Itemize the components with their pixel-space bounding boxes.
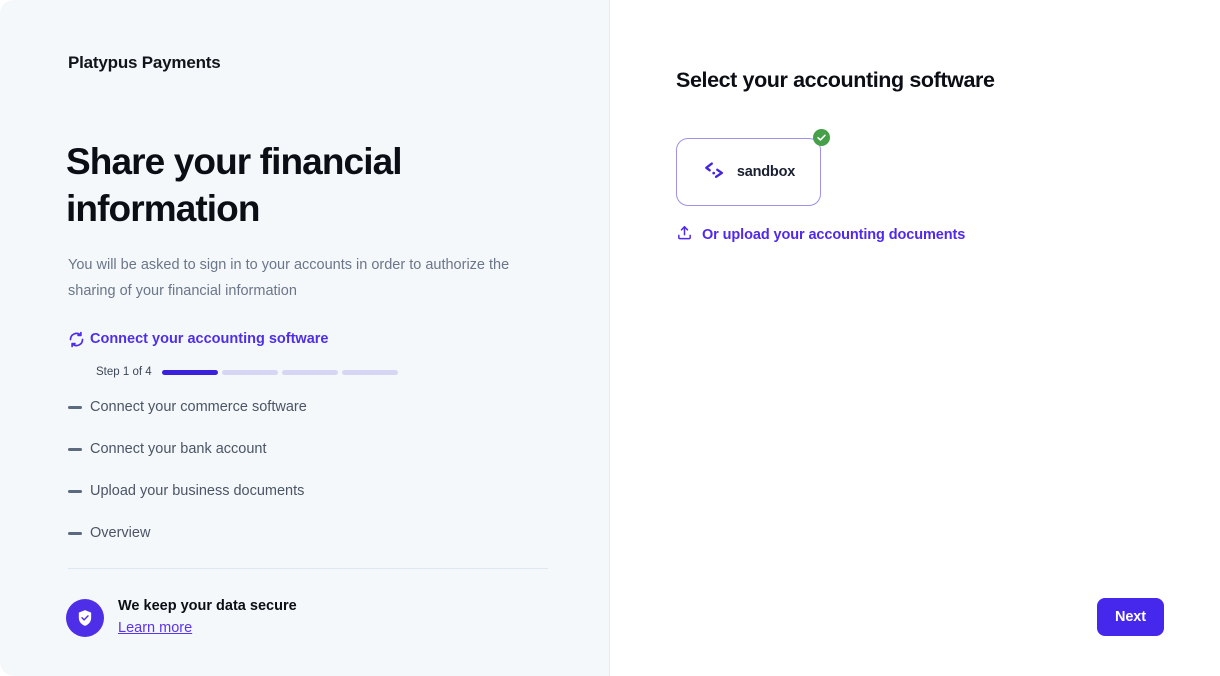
code-brackets-icon — [702, 159, 728, 186]
spacer — [68, 460, 548, 480]
progress-bar-segment-3 — [282, 370, 338, 375]
upload-documents-link[interactable]: Or upload your accounting documents — [676, 224, 965, 246]
footer-divider — [68, 568, 548, 569]
sync-arrows-icon — [68, 331, 90, 348]
panel-title: Select your accounting software — [676, 68, 995, 93]
next-button[interactable]: Next — [1097, 598, 1164, 636]
step-progress: Step 1 of 4 — [68, 366, 548, 378]
spacer — [68, 502, 548, 522]
progress-bar-segment-2 — [222, 370, 278, 375]
steps-list: Connect your accounting software Step 1 … — [68, 328, 548, 544]
shield-check-icon — [66, 599, 104, 637]
brand-name: Platypus Payments — [68, 53, 221, 73]
step-item-overview[interactable]: Overview — [68, 522, 548, 544]
step-item-connect-accounting[interactable]: Connect your accounting software — [68, 328, 548, 350]
progress-bar-segment-4 — [342, 370, 398, 375]
upload-link-label: Or upload your accounting documents — [702, 227, 965, 243]
spacer — [68, 418, 548, 438]
progress-label: Step 1 of 4 — [96, 366, 152, 378]
step-label: Overview — [90, 525, 150, 541]
learn-more-link[interactable]: Learn more — [118, 620, 192, 636]
step-item-connect-commerce[interactable]: Connect your commerce software — [68, 396, 548, 418]
step-item-connect-bank[interactable]: Connect your bank account — [68, 438, 548, 460]
progress-bar-segment-1 — [162, 370, 218, 375]
check-circle-icon — [813, 129, 830, 146]
security-text-block: We keep your data secure Learn more — [118, 598, 297, 637]
progress-bars — [162, 370, 398, 375]
step-item-upload-documents[interactable]: Upload your business documents — [68, 480, 548, 502]
onboarding-page: Platypus Payments Share your financial i… — [0, 0, 1220, 676]
step-label: Connect your accounting software — [90, 331, 328, 347]
left-info-panel: Platypus Payments Share your financial i… — [0, 0, 610, 676]
upload-icon — [676, 224, 693, 246]
security-title: We keep your data secure — [118, 598, 297, 614]
step-label: Upload your business documents — [90, 483, 304, 499]
step-label: Connect your bank account — [90, 441, 267, 457]
dash-icon — [68, 490, 90, 493]
security-notice: We keep your data secure Learn more — [66, 598, 297, 637]
dash-icon — [68, 406, 90, 409]
dash-icon — [68, 448, 90, 451]
provider-card-sandbox[interactable]: sandbox — [676, 138, 821, 206]
provider-name: sandbox — [737, 164, 795, 180]
page-headline: Share your financial information — [66, 138, 486, 232]
dash-icon — [68, 532, 90, 535]
right-selection-panel: Select your accounting software sandbox — [610, 0, 1220, 676]
page-subtext: You will be asked to sign in to your acc… — [68, 252, 554, 304]
step-label: Connect your commerce software — [90, 399, 307, 415]
